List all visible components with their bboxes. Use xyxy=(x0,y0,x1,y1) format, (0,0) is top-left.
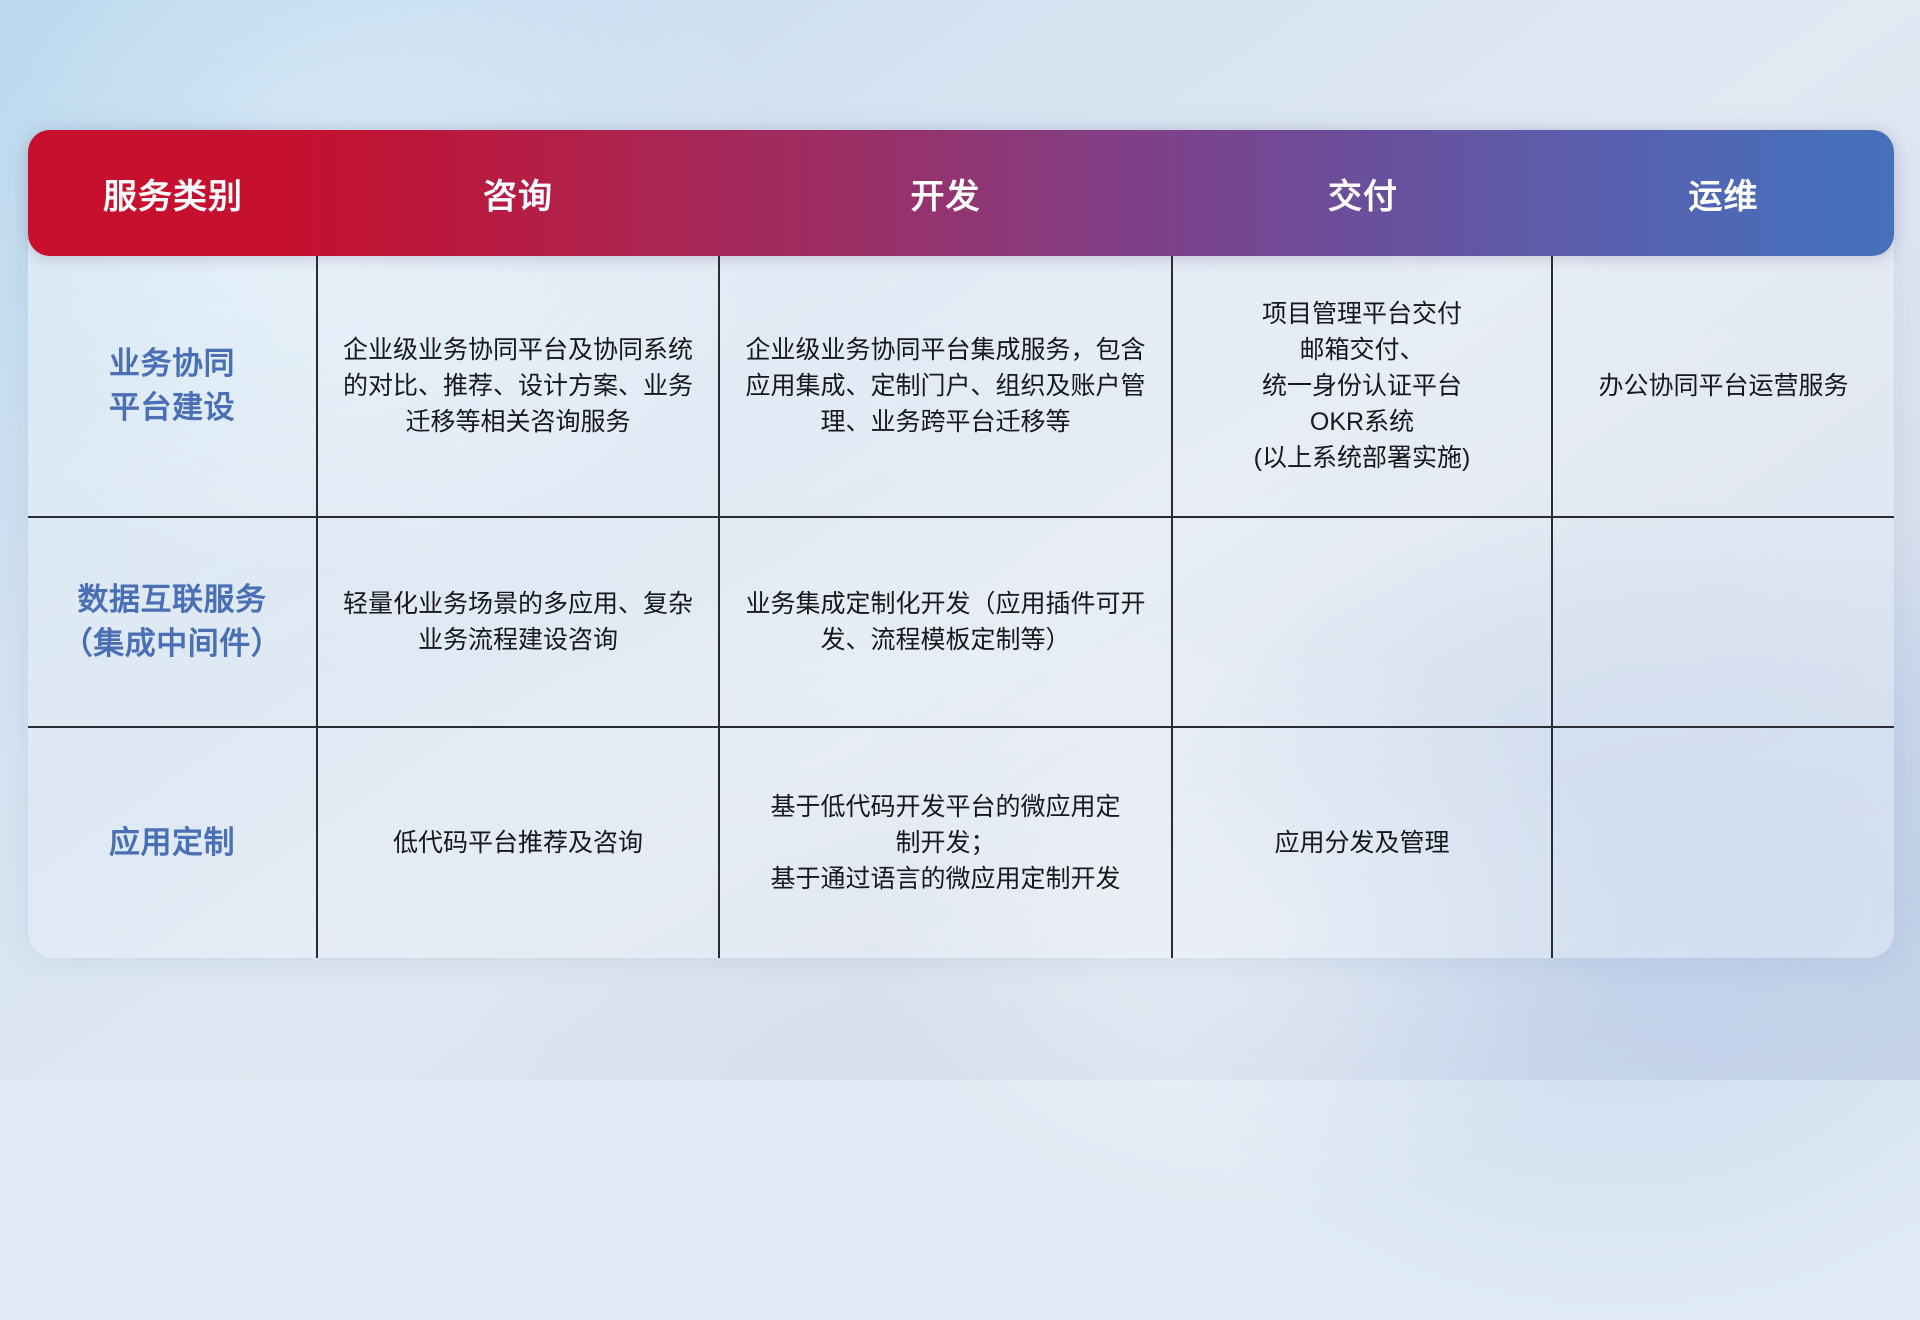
cell-text: 应用分发及管理 xyxy=(1274,825,1449,861)
service-matrix-table: 服务类别 咨询 开发 交付 运维 业务协同 平台建设 企业级业务协同平台及协同系… xyxy=(28,130,1894,958)
cell-development: 业务集成定制化开发（应用插件可开发、流程模板定制等） xyxy=(718,518,1173,726)
cell-operations xyxy=(1553,728,1894,958)
column-header-service-category: 服务类别 xyxy=(28,169,318,218)
row-label-cell: 数据互联服务 （集成中间件） xyxy=(28,518,318,726)
cell-text: 办公协同平台运营服务 xyxy=(1598,368,1848,404)
cell-consulting: 企业级业务协同平台及协同系统的对比、推荐、设计方案、业务迁移等相关咨询服务 xyxy=(318,256,718,516)
table-row: 业务协同 平台建设 企业级业务协同平台及协同系统的对比、推荐、设计方案、业务迁移… xyxy=(28,256,1894,518)
cell-text-line: 基于通过语言的微应用定制开发 xyxy=(770,861,1120,897)
cell-consulting: 低代码平台推荐及咨询 xyxy=(318,728,718,958)
cell-delivery: 项目管理平台交付 邮箱交付、 统一身份认证平台 OKR系统 (以上系统部署实施) xyxy=(1173,256,1553,516)
cell-text-line: (以上系统部署实施) xyxy=(1254,440,1471,476)
cell-operations: 办公协同平台运营服务 xyxy=(1553,256,1894,516)
cell-text: 项目管理平台交付 邮箱交付、 统一身份认证平台 OKR系统 (以上系统部署实施) xyxy=(1254,296,1471,476)
table-body: 业务协同 平台建设 企业级业务协同平台及协同系统的对比、推荐、设计方案、业务迁移… xyxy=(28,256,1894,958)
cell-development: 基于低代码开发平台的微应用定 制开发； 基于通过语言的微应用定制开发 xyxy=(718,728,1173,958)
cell-text: 企业级业务协同平台集成服务，包含应用集成、定制门户、组织及账户管理、业务跨平台迁… xyxy=(738,332,1153,440)
cell-text-line: 邮箱交付、 xyxy=(1254,332,1471,368)
cell-delivery: 应用分发及管理 xyxy=(1173,728,1553,958)
row-label-line: （集成中间件） xyxy=(62,622,283,666)
row-label-text: 数据互联服务 （集成中间件） xyxy=(62,578,283,666)
row-label-text: 应用定制 xyxy=(109,821,235,865)
row-label-cell: 应用定制 xyxy=(28,728,318,958)
cell-text: 轻量化业务场景的多应用、复杂业务流程建设咨询 xyxy=(336,586,700,658)
column-header-consulting: 咨询 xyxy=(318,169,718,218)
cell-text: 企业级业务协同平台及协同系统的对比、推荐、设计方案、业务迁移等相关咨询服务 xyxy=(336,332,700,440)
row-label-text: 业务协同 平台建设 xyxy=(109,342,235,430)
row-label-line: 应用定制 xyxy=(109,821,235,865)
cell-operations xyxy=(1553,518,1894,726)
cell-text: 基于低代码开发平台的微应用定 制开发； 基于通过语言的微应用定制开发 xyxy=(770,789,1120,897)
cell-text-line: 制开发； xyxy=(770,825,1120,861)
cell-text-line: OKR系统 xyxy=(1254,404,1471,440)
cell-text: 业务集成定制化开发（应用插件可开发、流程模板定制等） xyxy=(738,586,1153,658)
cell-text-line: 项目管理平台交付 xyxy=(1254,296,1471,332)
cell-text-line: 基于低代码开发平台的微应用定 xyxy=(770,789,1120,825)
table-row: 应用定制 低代码平台推荐及咨询 基于低代码开发平台的微应用定 制开发； 基于通过… xyxy=(28,728,1894,958)
table-header-row: 服务类别 咨询 开发 交付 运维 xyxy=(28,130,1894,256)
cell-consulting: 轻量化业务场景的多应用、复杂业务流程建设咨询 xyxy=(318,518,718,726)
cell-delivery xyxy=(1173,518,1553,726)
cell-text-line: 统一身份认证平台 xyxy=(1254,368,1471,404)
table-row: 数据互联服务 （集成中间件） 轻量化业务场景的多应用、复杂业务流程建设咨询 业务… xyxy=(28,518,1894,728)
row-label-cell: 业务协同 平台建设 xyxy=(28,256,318,516)
slide-canvas: 服务类别 咨询 开发 交付 运维 业务协同 平台建设 企业级业务协同平台及协同系… xyxy=(0,0,1920,1080)
column-header-development: 开发 xyxy=(718,169,1173,218)
cell-text: 低代码平台推荐及咨询 xyxy=(393,825,643,861)
column-header-delivery: 交付 xyxy=(1173,169,1553,218)
row-label-line: 平台建设 xyxy=(109,386,235,430)
cell-development: 企业级业务协同平台集成服务，包含应用集成、定制门户、组织及账户管理、业务跨平台迁… xyxy=(718,256,1173,516)
row-label-line: 数据互联服务 xyxy=(62,578,283,622)
row-label-line: 业务协同 xyxy=(109,342,235,386)
column-header-operations: 运维 xyxy=(1553,169,1894,218)
